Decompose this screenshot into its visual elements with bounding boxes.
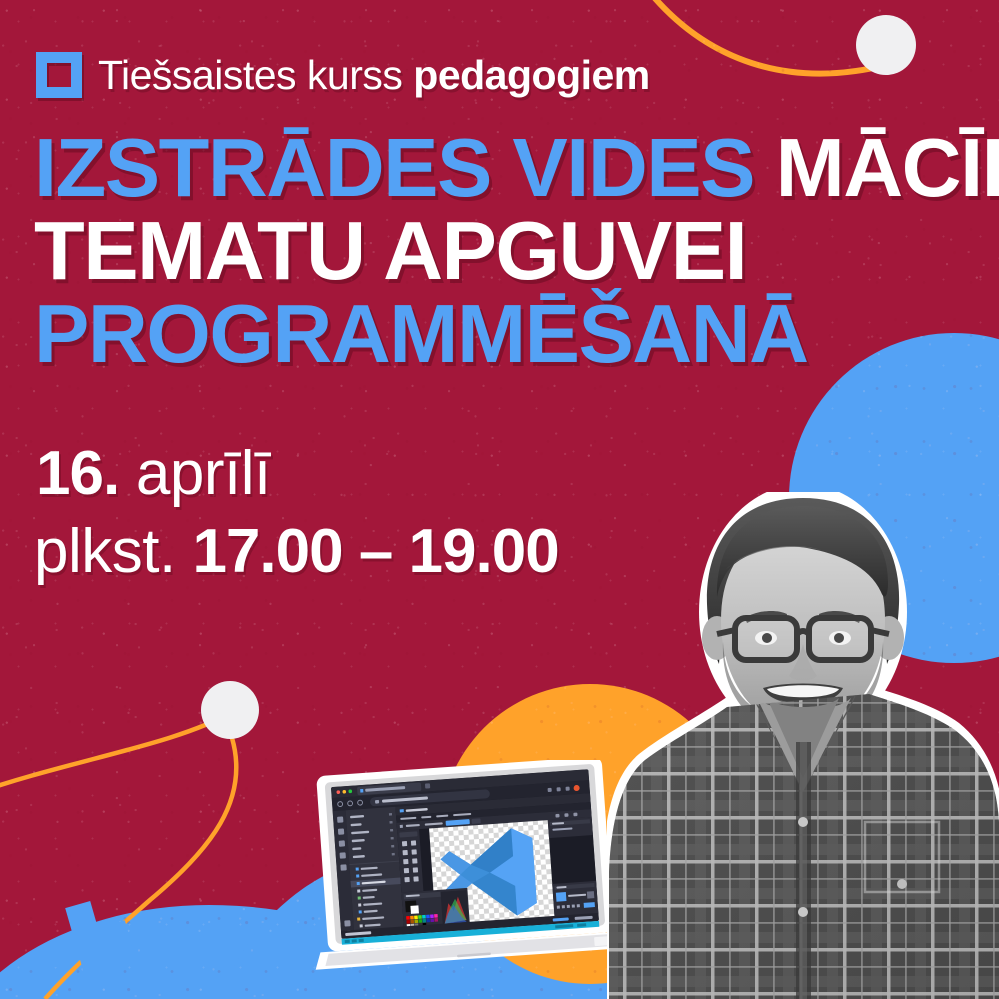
laptop-illustration — [300, 760, 630, 975]
event-month: aprīlī — [119, 439, 271, 508]
headline-line-1-blue: IZSTRĀDES VIDES — [34, 121, 754, 214]
headline-line-3-blue: PROGRAMMĒŠANĀ — [34, 287, 808, 380]
white-circle-left — [201, 681, 259, 739]
white-circle-top-right — [856, 15, 916, 75]
kicker-row: Tiešsaistes kurss pedagogiem — [36, 52, 650, 98]
event-time: plkst. 17.00 – 19.00 — [34, 521, 559, 583]
event-date: 16. aprīlī — [36, 443, 271, 505]
kicker-bold: pedagogiem — [413, 52, 649, 98]
headline-line-1-white: MĀCĪBU — [754, 121, 999, 214]
person-photo — [607, 492, 999, 999]
square-outline-icon — [36, 52, 82, 98]
event-time-prefix: plkst. — [34, 517, 192, 586]
kicker-regular: Tiešsaistes kurss — [98, 52, 413, 98]
event-time-range: 17.00 – 19.00 — [192, 517, 558, 586]
headline-line-1: IZSTRĀDES VIDES MĀCĪBU — [34, 127, 999, 208]
headline-line-3: PROGRAMMĒŠANĀ — [34, 293, 808, 374]
poster-canvas: Tiešsaistes kurss pedagogiem IZSTRĀDES V… — [0, 0, 999, 999]
headline-line-2: TEMATU APGUVEI — [34, 210, 746, 291]
kicker-text: Tiešsaistes kurss pedagogiem — [98, 55, 650, 96]
event-day: 16. — [36, 439, 119, 508]
headline-line-2-white: TEMATU APGUVEI — [34, 204, 746, 297]
